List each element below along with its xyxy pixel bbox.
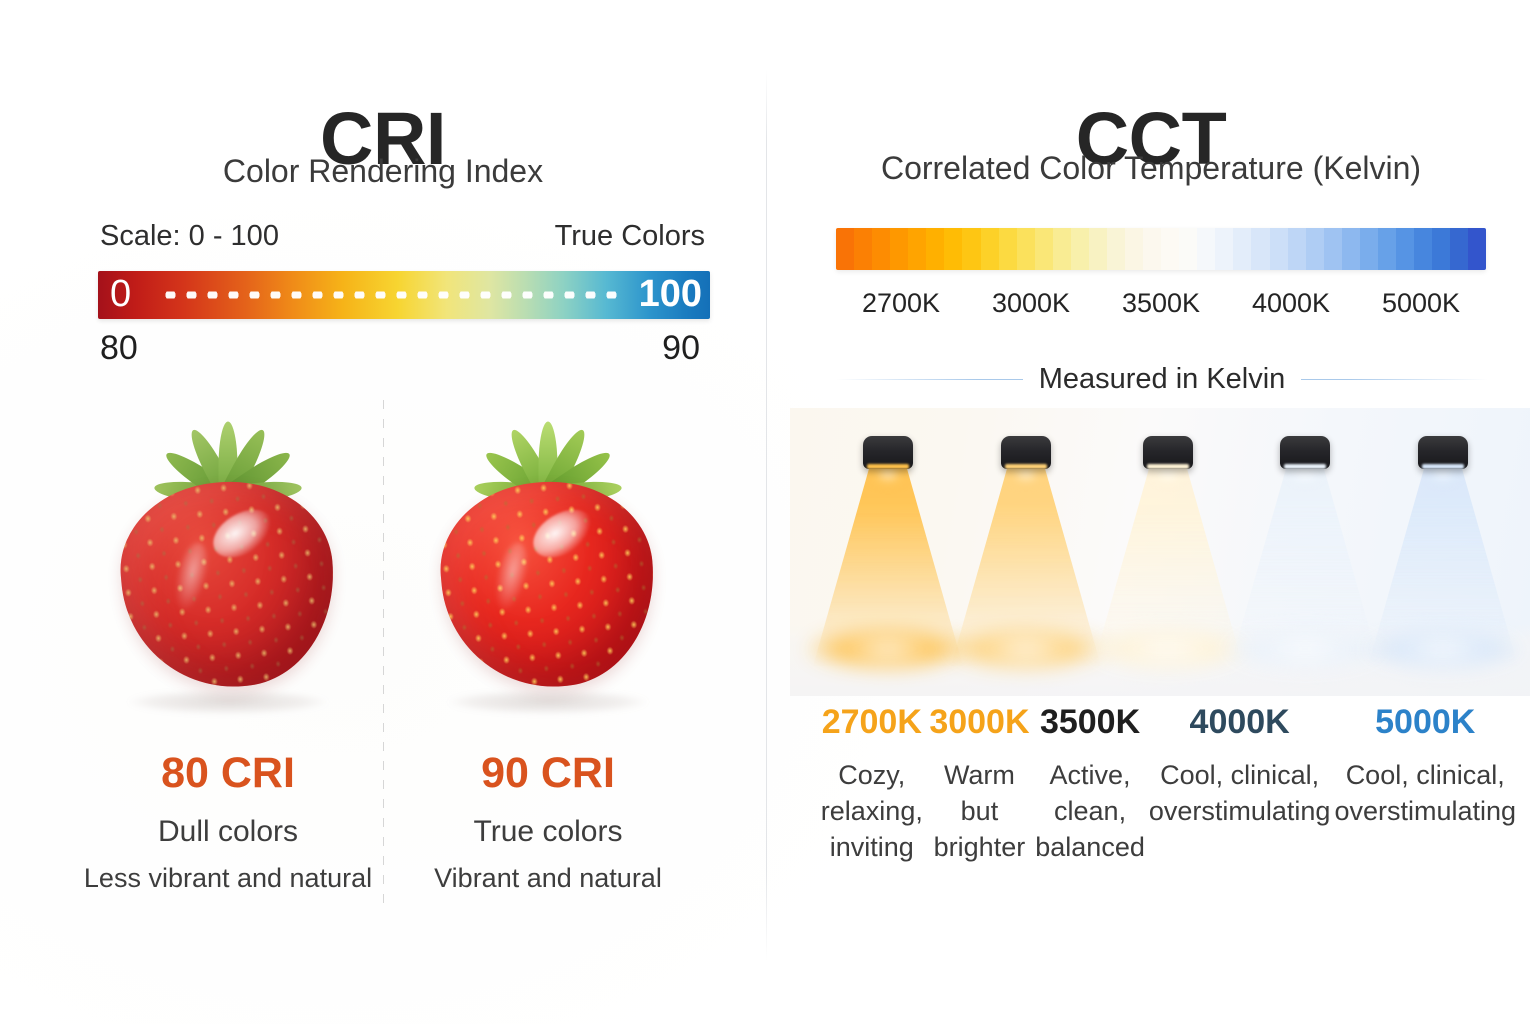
spotlight-housing-icon	[863, 436, 913, 469]
cct-gradient-segment-14	[1089, 228, 1107, 270]
cct-gradient-segment-3	[890, 228, 908, 270]
cct-gradient-segment-13	[1071, 228, 1089, 270]
cct-tick-4000k: 4000K	[1226, 288, 1356, 319]
spotlight-lens	[1147, 464, 1189, 469]
cct-label-column-5000k: 5000KCool, clinical, overstimulating	[1332, 703, 1518, 866]
spotlight-housing-icon	[1001, 436, 1051, 469]
cct-gradient-segment-15	[1107, 228, 1125, 270]
spotlight-4000k	[1230, 408, 1380, 696]
cct-gradient-segment-35	[1468, 228, 1486, 270]
cct-description-2700k: Cozy, relaxing, inviting	[820, 757, 924, 866]
cct-description-4000k: Cool, clinical, overstimulating	[1149, 757, 1331, 829]
cct-gradient-segment-22	[1233, 228, 1251, 270]
measured-in-kelvin-row: Measured in Kelvin	[836, 362, 1488, 396]
spotlight-lens	[1005, 464, 1047, 469]
cct-label-column-3500k: 3500KActive, clean, balanced	[1033, 703, 1147, 866]
strawberry-icon	[103, 442, 353, 694]
cri-gradient-bar: 0 100	[98, 271, 710, 319]
cct-gradient-segment-11	[1035, 228, 1053, 270]
cct-gradient-segment-16	[1125, 228, 1143, 270]
cct-label-row: 2700KCozy, relaxing, inviting3000KWarm b…	[818, 703, 1518, 866]
cri-bar-end-value: 100	[639, 275, 702, 313]
cct-gradient-segment-33	[1432, 228, 1450, 270]
cct-gradient-segment-17	[1143, 228, 1161, 270]
cct-gradient-segment-5	[926, 228, 944, 270]
cct-description-5000k: Cool, clinical, overstimulating	[1334, 757, 1516, 829]
measured-in-kelvin-label: Measured in Kelvin	[1039, 365, 1286, 394]
cct-gradient-segment-10	[1017, 228, 1035, 270]
cri-tick-right: 90	[662, 329, 700, 368]
cri-sample-90-image	[388, 420, 708, 720]
cct-gradient-segment-26	[1306, 228, 1324, 270]
spotlight-housing-icon	[1280, 436, 1330, 469]
spotlight-floor-pool	[1359, 626, 1527, 672]
spotlight-lens	[867, 464, 909, 469]
cct-kelvin-value-3500k: 3500K	[1035, 703, 1145, 741]
cct-description-3000k: Warm but brighter	[928, 757, 1032, 866]
cct-gradient-segment-4	[908, 228, 926, 270]
cct-gradient-segment-6	[944, 228, 962, 270]
cct-description-3500k: Active, clean, balanced	[1035, 757, 1145, 866]
cct-gradient-segment-7	[962, 228, 980, 270]
spotlight-scene	[790, 408, 1530, 696]
cct-gradient-segment-31	[1396, 228, 1414, 270]
spotlight-3000k	[951, 408, 1101, 696]
cri-scale-label: Scale: 0 - 100	[100, 220, 279, 253]
cct-tick-2700k: 2700K	[836, 288, 966, 319]
cct-tick-5000k: 5000K	[1356, 288, 1486, 319]
spotlight-5000k	[1368, 408, 1518, 696]
cct-kelvin-value-2700k: 2700K	[820, 703, 924, 741]
cct-gradient-segment-20	[1197, 228, 1215, 270]
cct-gradient-segment-12	[1053, 228, 1071, 270]
cct-gradient-segment-23	[1251, 228, 1269, 270]
divider-rule-right	[1301, 379, 1488, 380]
cri-sample-90: 90 CRI True colors Vibrant and natural	[388, 420, 708, 720]
cri-sample-80-line2: Less vibrant and natural	[68, 865, 388, 892]
cri-tick-row: 80 90	[100, 329, 700, 368]
cri-quality-label: True Colors	[555, 220, 705, 253]
cct-gradient-segment-0	[836, 228, 854, 270]
cct-gradient-segment-1	[854, 228, 872, 270]
cct-gradient-segment-18	[1161, 228, 1179, 270]
spotlight-2700k	[813, 408, 963, 696]
cct-gradient-segment-21	[1215, 228, 1233, 270]
cri-sample-90-value: 90 CRI	[388, 752, 708, 795]
cct-gradient-segment-30	[1378, 228, 1396, 270]
cct-gradient-segment-27	[1324, 228, 1342, 270]
cct-gradient-segment-2	[872, 228, 890, 270]
cct-kelvin-value-3000k: 3000K	[928, 703, 1032, 741]
cri-sample-80-line1: Dull colors	[68, 817, 388, 847]
cri-scale-row: Scale: 0 - 100 True Colors	[100, 220, 705, 253]
cct-kelvin-value-4000k: 4000K	[1149, 703, 1331, 741]
spotlight-3500k	[1093, 408, 1243, 696]
infographic-canvas: CRI Color Rendering Index Scale: 0 - 100…	[0, 0, 1536, 1024]
cct-gradient-segment-28	[1342, 228, 1360, 270]
cct-label-column-4000k: 4000KCool, clinical, overstimulating	[1147, 703, 1333, 866]
cct-tick-3500k: 3500K	[1096, 288, 1226, 319]
cri-sample-80-value: 80 CRI	[68, 752, 388, 795]
cri-bar-dots	[160, 292, 622, 299]
cct-gradient-segment-8	[981, 228, 999, 270]
cct-subtitle: Correlated Color Temperature (Kelvin)	[766, 152, 1536, 184]
cri-bar-start-value: 0	[110, 275, 131, 313]
cri-sample-80: 80 CRI Dull colors Less vibrant and natu…	[68, 420, 388, 720]
cct-tick-3000k: 3000K	[966, 288, 1096, 319]
cct-tick-row: 2700K3000K3500K4000K5000K	[836, 288, 1486, 319]
cct-kelvin-value-5000k: 5000K	[1334, 703, 1516, 741]
spotlight-housing-icon	[1143, 436, 1193, 469]
cri-tick-left: 80	[100, 329, 138, 368]
cri-sample-80-image	[68, 420, 388, 720]
cct-gradient-segment-24	[1270, 228, 1288, 270]
cct-gradient-segment-19	[1179, 228, 1197, 270]
cct-gradient-segment-29	[1360, 228, 1378, 270]
cct-gradient-segment-32	[1414, 228, 1432, 270]
spotlight-lens	[1422, 464, 1464, 469]
cct-label-column-2700k: 2700KCozy, relaxing, inviting	[818, 703, 926, 866]
cct-label-column-3000k: 3000KWarm but brighter	[926, 703, 1034, 866]
cri-panel: CRI Color Rendering Index Scale: 0 - 100…	[0, 0, 766, 1024]
spotlight-lens	[1284, 464, 1326, 469]
spotlight-housing-icon	[1418, 436, 1468, 469]
divider-rule-left	[836, 379, 1023, 380]
cct-gradient-segment-34	[1450, 228, 1468, 270]
cri-subtitle: Color Rendering Index	[0, 155, 766, 187]
strawberry-icon	[423, 442, 673, 694]
cct-gradient-strip	[836, 228, 1486, 270]
cct-gradient-segment-25	[1288, 228, 1306, 270]
cri-sample-90-line1: True colors	[388, 817, 708, 847]
cri-sample-90-line2: Vibrant and natural	[388, 865, 708, 892]
cct-gradient-segment-9	[999, 228, 1017, 270]
